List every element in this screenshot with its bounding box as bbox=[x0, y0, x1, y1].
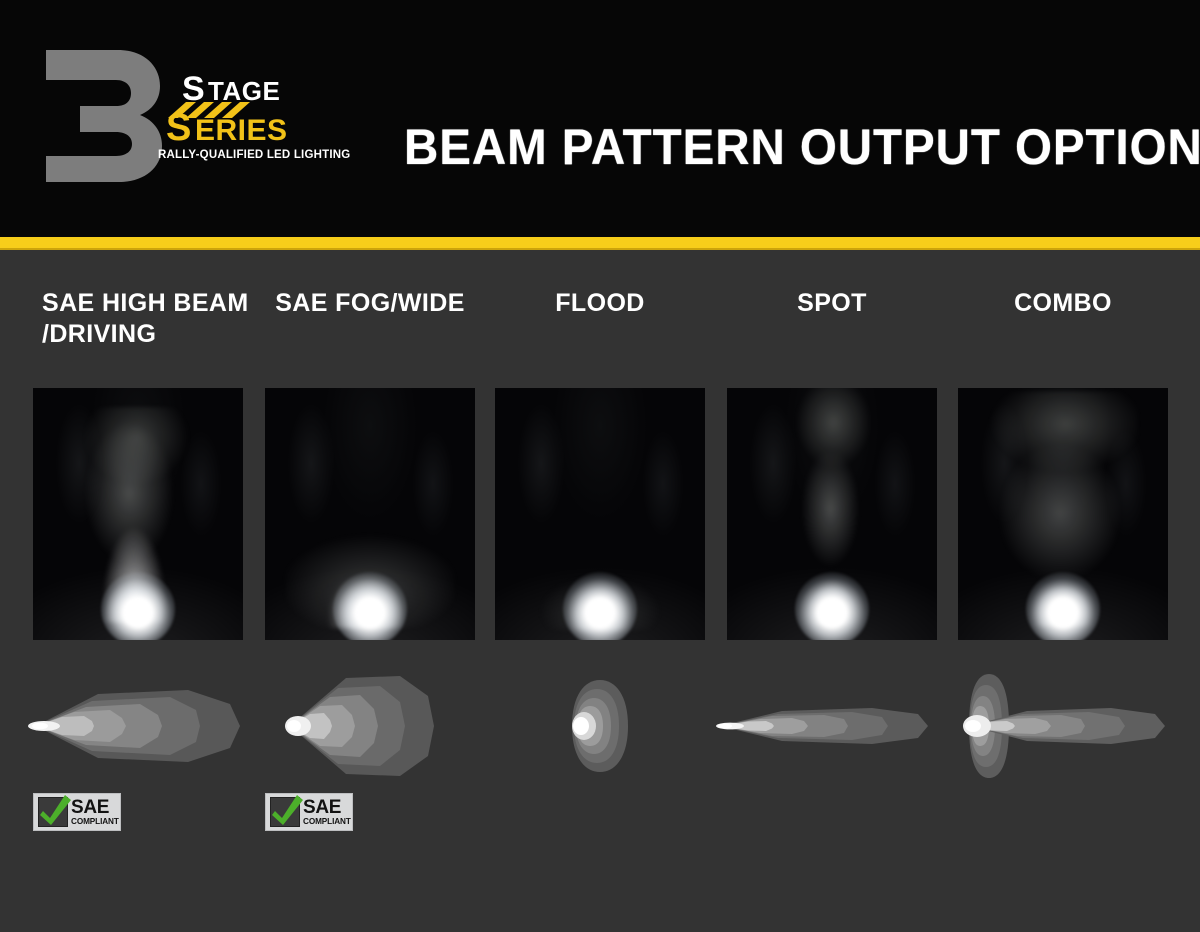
column-sae-high-beam-driving: SAE HIGH BEAM /DRIVING bbox=[18, 250, 258, 910]
beam-photo-sae-high-beam-driving bbox=[33, 388, 243, 640]
photo-hotspot bbox=[563, 572, 637, 640]
badge-title: SAE bbox=[303, 798, 351, 817]
beam-photo-flood bbox=[495, 388, 705, 640]
svg-text:S: S bbox=[166, 107, 192, 149]
sae-compliant-badge-sae-high-beam-driving: SAE COMPLIANT bbox=[33, 793, 121, 831]
beam-photo-combo bbox=[958, 388, 1168, 640]
column-sae-fog-wide: SAE FOG/WIDE bbox=[250, 250, 490, 910]
photo-hotspot bbox=[333, 572, 407, 640]
logo-tagline: RALLY-QUALIFIED LED LIGHTING bbox=[158, 149, 350, 161]
badge-text: SAE COMPLIANT bbox=[303, 798, 351, 826]
photo-hotspot bbox=[1026, 572, 1100, 640]
svg-text:ERIES: ERIES bbox=[195, 114, 288, 147]
green-check-icon bbox=[38, 791, 72, 827]
beam-photo-spot bbox=[727, 388, 937, 640]
green-check-icon bbox=[270, 791, 304, 827]
beam-photo-sae-fog-wide bbox=[265, 388, 475, 640]
column-flood: FLOOD bbox=[480, 250, 720, 910]
column-header-line1: SAE FOG/WIDE bbox=[250, 288, 490, 319]
sae-compliant-badge-sae-fog-wide: SAE COMPLIANT bbox=[265, 793, 353, 831]
column-spot: SPOT bbox=[712, 250, 952, 910]
beam-pattern-infographic: S TAGE S ERIES RALLY-QUALIFIED LED LIGHT… bbox=[0, 0, 1200, 932]
3-stage-series-logo: S TAGE S ERIES RALLY-QUALIFIED LED LIGHT… bbox=[40, 44, 360, 184]
beam-pattern-diagram-spot bbox=[712, 670, 952, 780]
pattern-layers bbox=[285, 676, 434, 776]
column-header-line1: SPOT bbox=[712, 288, 952, 319]
svg-text:S: S bbox=[182, 70, 205, 108]
column-header-line2: /DRIVING bbox=[42, 319, 258, 350]
column-combo: COMBO bbox=[943, 250, 1183, 910]
column-header-spot: SPOT bbox=[712, 288, 952, 319]
page-title: BEAM PATTERN OUTPUT OPTIONS bbox=[404, 122, 1200, 172]
column-header-sae-high-beam-driving: SAE HIGH BEAM /DRIVING bbox=[18, 288, 258, 351]
beam-pattern-diagram-sae-fog-wide bbox=[250, 670, 490, 780]
pattern-layers bbox=[716, 708, 928, 744]
photo-hotspot bbox=[795, 572, 869, 640]
beam-pattern-diagram-flood bbox=[480, 670, 720, 780]
accent-divider bbox=[0, 237, 1200, 250]
checkbox-box bbox=[38, 797, 68, 827]
column-header-line1: SAE HIGH BEAM bbox=[42, 288, 258, 319]
photo-hotspot bbox=[101, 572, 175, 640]
column-header-line1: FLOOD bbox=[480, 288, 720, 319]
beam-pattern-diagram-combo bbox=[943, 670, 1183, 780]
header-bar: S TAGE S ERIES RALLY-QUALIFIED LED LIGHT… bbox=[0, 0, 1200, 237]
pattern-layers bbox=[28, 690, 240, 762]
badge-title: SAE bbox=[71, 798, 119, 817]
column-header-combo: COMBO bbox=[943, 288, 1183, 319]
pattern-layers bbox=[572, 680, 628, 772]
checkbox-box bbox=[270, 797, 300, 827]
svg-text:TAGE: TAGE bbox=[208, 76, 280, 106]
beam-pattern-diagram-sae-high-beam-driving bbox=[18, 670, 258, 780]
column-header-sae-fog-wide: SAE FOG/WIDE bbox=[250, 288, 490, 319]
logo-numeral-3 bbox=[46, 50, 162, 182]
column-header-line1: COMBO bbox=[943, 288, 1183, 319]
badge-text: SAE COMPLIANT bbox=[71, 798, 119, 826]
badge-subtitle: COMPLIANT bbox=[303, 818, 351, 826]
column-header-flood: FLOOD bbox=[480, 288, 720, 319]
badge-subtitle: COMPLIANT bbox=[71, 818, 119, 826]
